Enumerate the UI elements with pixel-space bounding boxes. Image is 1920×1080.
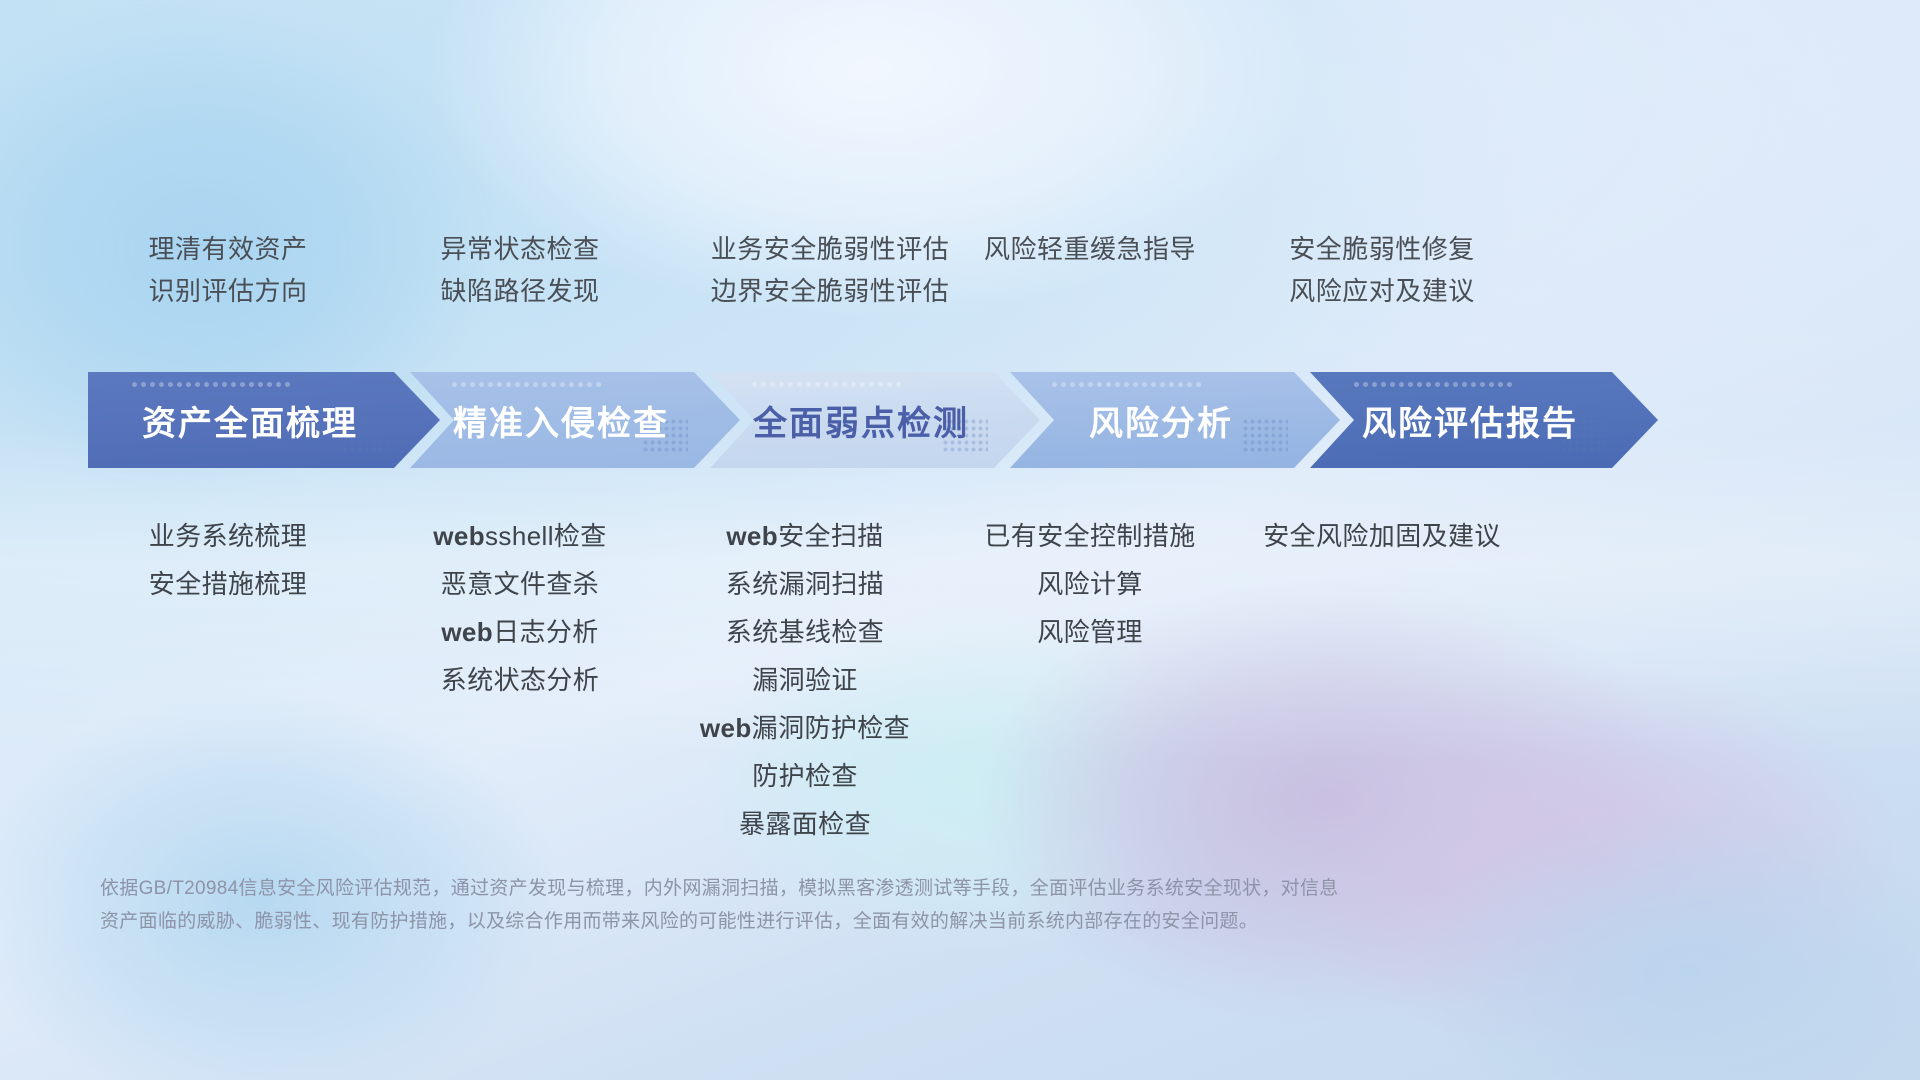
chevron-label: 风险分析 xyxy=(1089,396,1233,445)
chevron-tip-dot-texture xyxy=(1242,418,1288,452)
chevron-label: 风险评估报告 xyxy=(1362,396,1578,445)
chevron-step-2[interactable]: 精准入侵检查 xyxy=(410,372,740,468)
process-item: web漏洞防护检查 xyxy=(700,704,910,752)
top-note: 边界安全脆弱性评估 xyxy=(711,278,950,304)
chevron-dot-texture xyxy=(1050,380,1202,390)
top-note: 理清有效资产 xyxy=(148,236,307,262)
process-chevron-band: 资产全面梳理精准入侵检查全面弱点检测风险分析风险评估报告 xyxy=(88,372,1848,468)
disclaimer-block: 依据GB/T20984信息安全风险评估规范，通过资产发现与梳理，内外网漏洞扫描，… xyxy=(100,872,1660,938)
top-notes-step-5: 安全脆弱性修复风险应对及建议 xyxy=(1152,236,1612,304)
chevron-label: 全面弱点检测 xyxy=(753,396,969,445)
top-note: 异常状态检查 xyxy=(440,236,599,262)
process-item: 安全风险加固及建议 xyxy=(1263,512,1501,560)
process-item: 防护检查 xyxy=(752,752,858,800)
top-notes-row: 理清有效资产识别评估方向异常状态检查缺陷路径发现业务安全脆弱性评估边界安全脆弱性… xyxy=(0,236,1920,346)
chevron-step-4[interactable]: 风险分析 xyxy=(1010,372,1340,468)
process-item: 风险管理 xyxy=(1037,608,1143,656)
process-item: 风险计算 xyxy=(1037,560,1143,608)
chevron-label: 精准入侵检查 xyxy=(453,396,669,445)
chevron-step-3[interactable]: 全面弱点检测 xyxy=(710,372,1040,468)
chevron-dot-texture xyxy=(1352,380,1512,390)
top-note: 识别评估方向 xyxy=(148,278,307,304)
top-note: 安全脆弱性修复 xyxy=(1289,236,1475,262)
disclaimer-line-2: 资产面临的威胁、脆弱性、现有防护措施，以及综合作用而带来风险的可能性进行评估，全… xyxy=(100,905,1660,938)
process-item: 安全措施梳理 xyxy=(149,560,307,608)
chevron-label: 资产全面梳理 xyxy=(142,396,358,445)
process-item: 暴露面检查 xyxy=(739,800,871,848)
chevron-dot-texture xyxy=(450,380,602,390)
top-note: 风险应对及建议 xyxy=(1289,278,1475,304)
process-item: 漏洞验证 xyxy=(752,656,858,704)
chevron-step-5[interactable]: 风险评估报告 xyxy=(1310,372,1658,468)
chevron-dot-texture xyxy=(130,380,292,390)
process-diagram: 理清有效资产识别评估方向异常状态检查缺陷路径发现业务安全脆弱性评估边界安全脆弱性… xyxy=(0,0,1920,1080)
disclaimer-line-1: 依据GB/T20984信息安全风险评估规范，通过资产发现与梳理，内外网漏洞扫描，… xyxy=(100,872,1660,905)
chevron-dot-texture xyxy=(750,380,902,390)
process-item: 业务系统梳理 xyxy=(149,512,307,560)
items-step-5: 安全风险加固及建议 xyxy=(1152,512,1612,560)
chevron-step-1[interactable]: 资产全面梳理 xyxy=(88,372,440,468)
top-note: 缺陷路径发现 xyxy=(440,278,599,304)
